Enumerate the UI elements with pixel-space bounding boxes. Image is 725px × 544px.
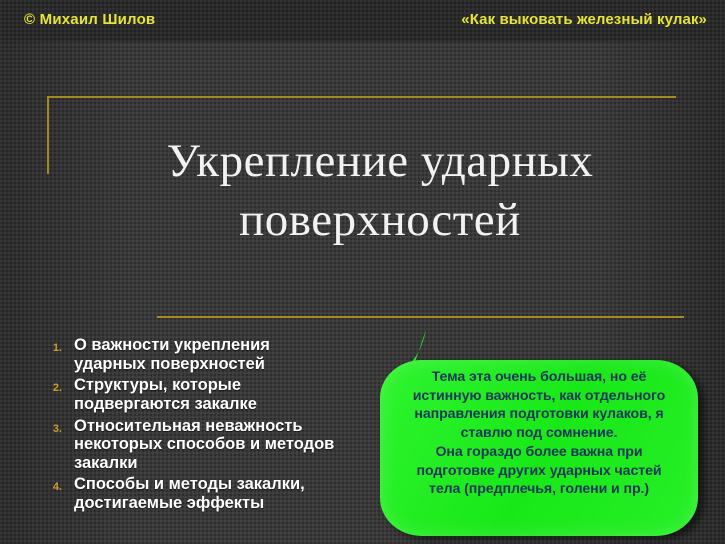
list-item: 3. Относительная неважность некоторых сп…: [28, 417, 388, 473]
horizontal-divider: [157, 316, 684, 318]
list-item-number: 1.: [28, 336, 74, 354]
slide-title: Укрепление ударных поверхностей: [60, 132, 700, 250]
list-item-line: закалки: [74, 454, 137, 472]
list-item: 4. Способы и методы закалки, достигаемые…: [28, 475, 388, 512]
author-credit: © Михаил Шилов: [24, 11, 155, 28]
list-item-number: 2.: [28, 376, 74, 394]
speech-bubble-callout: Тема эта очень большая, но её истинную в…: [380, 328, 705, 538]
bubble-line: истинную важность, как отдельного: [386, 387, 692, 406]
list-item-line: подвергаются закалке: [74, 395, 257, 413]
list-item-line: некоторых способов и методов: [74, 435, 334, 453]
bubble-line: ставлю под сомнение.: [386, 424, 692, 443]
presentation-title-label: «Как выковать железный кулак»: [461, 11, 707, 28]
list-item: 1. О важности укрепления ударных поверхн…: [28, 336, 388, 373]
list-item-number: 4.: [28, 475, 74, 493]
speech-bubble-text: Тема эта очень большая, но её истинную в…: [386, 368, 692, 499]
list-item-text: О важности укрепления ударных поверхност…: [74, 336, 388, 373]
bubble-line: тела (предплечья, голени и пр.): [386, 480, 692, 499]
slide-title-line-2: поверхностей: [60, 191, 700, 250]
agenda-list: 1. О важности укрепления ударных поверхн…: [28, 336, 388, 516]
bubble-line: Она гораздо более важна при: [386, 443, 692, 462]
list-item-line: Способы и методы закалки,: [74, 475, 305, 493]
list-item-text: Способы и методы закалки, достигаемые эф…: [74, 475, 388, 512]
list-item-line: О важности укрепления: [74, 336, 270, 354]
slide-title-line-1: Укрепление ударных: [60, 132, 700, 191]
list-item-text: Относительная неважность некоторых спосо…: [74, 417, 388, 473]
list-item-line: ударных поверхностей: [74, 355, 265, 373]
list-item-line: Относительная неважность: [74, 417, 302, 435]
slide-header-band: © Михаил Шилов «Как выковать железный ку…: [0, 0, 725, 42]
list-item: 2. Структуры, которые подвергаются закал…: [28, 376, 388, 413]
list-item-line: достигаемые эффекты: [74, 494, 264, 512]
bubble-line: направления подготовки кулаков, я: [386, 405, 692, 424]
bubble-line: Тема эта очень большая, но её: [386, 368, 692, 387]
list-item-number: 3.: [28, 417, 74, 435]
presentation-slide: © Михаил Шилов «Как выковать железный ку…: [0, 0, 725, 544]
list-item-text: Структуры, которые подвергаются закалке: [74, 376, 388, 413]
bubble-line: подготовке других ударных частей: [386, 462, 692, 481]
list-item-line: Структуры, которые: [74, 376, 241, 394]
